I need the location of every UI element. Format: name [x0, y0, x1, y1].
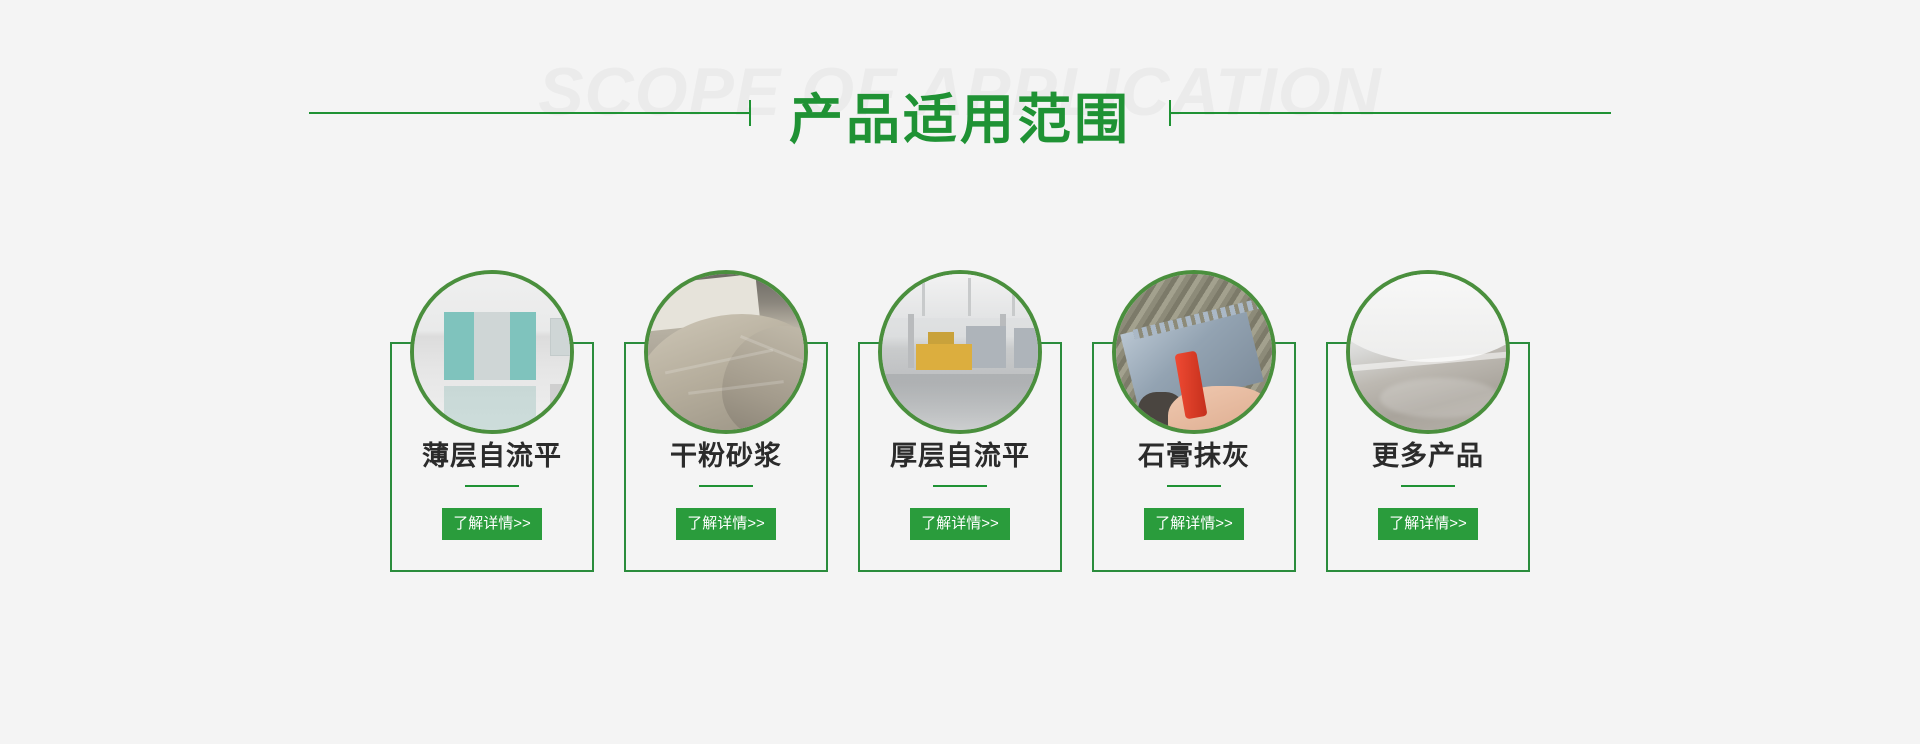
page-title: 产品适用范围: [0, 88, 1920, 153]
learn-more-button[interactable]: 了解详情>>: [442, 508, 542, 540]
product-image-thick-self-leveling-floor-photo: [878, 270, 1042, 434]
product-image-dry-powder-mortar-photo: [644, 270, 808, 434]
card-divider: [1401, 485, 1455, 487]
section-header: SCOPE OF APPLICATION 产品适用范围: [0, 0, 1920, 200]
product-card[interactable]: 干粉砂浆 了解详情>>: [624, 270, 828, 572]
card-divider: [699, 485, 753, 487]
card-title: 更多产品: [1328, 440, 1528, 472]
learn-more-button[interactable]: 了解详情>>: [676, 508, 776, 540]
product-card[interactable]: 厚层自流平 了解详情>>: [858, 270, 1062, 572]
card-divider: [933, 485, 987, 487]
card-title: 石膏抹灰: [1094, 440, 1294, 472]
learn-more-button[interactable]: 了解详情>>: [1378, 508, 1478, 540]
product-image-thin-self-leveling-floor-photo: [410, 270, 574, 434]
product-card[interactable]: 薄层自流平 了解详情>>: [390, 270, 594, 572]
product-card[interactable]: 石膏抹灰 了解详情>>: [1092, 270, 1296, 572]
card-title: 厚层自流平: [860, 440, 1060, 472]
product-card-list: 薄层自流平 了解详情>> 干粉砂浆 了解详情>>: [390, 270, 1530, 572]
product-card[interactable]: 更多产品 了解详情>>: [1326, 270, 1530, 572]
card-divider: [465, 485, 519, 487]
learn-more-button[interactable]: 了解详情>>: [910, 508, 1010, 540]
card-title: 干粉砂浆: [626, 440, 826, 472]
product-image-more-products-floor-photo: [1346, 270, 1510, 434]
product-image-gypsum-plaster-trowel-photo: [1112, 270, 1276, 434]
card-title: 薄层自流平: [392, 440, 592, 472]
card-divider: [1167, 485, 1221, 487]
learn-more-button[interactable]: 了解详情>>: [1144, 508, 1244, 540]
scope-of-application-section: SCOPE OF APPLICATION 产品适用范围: [0, 0, 1920, 744]
